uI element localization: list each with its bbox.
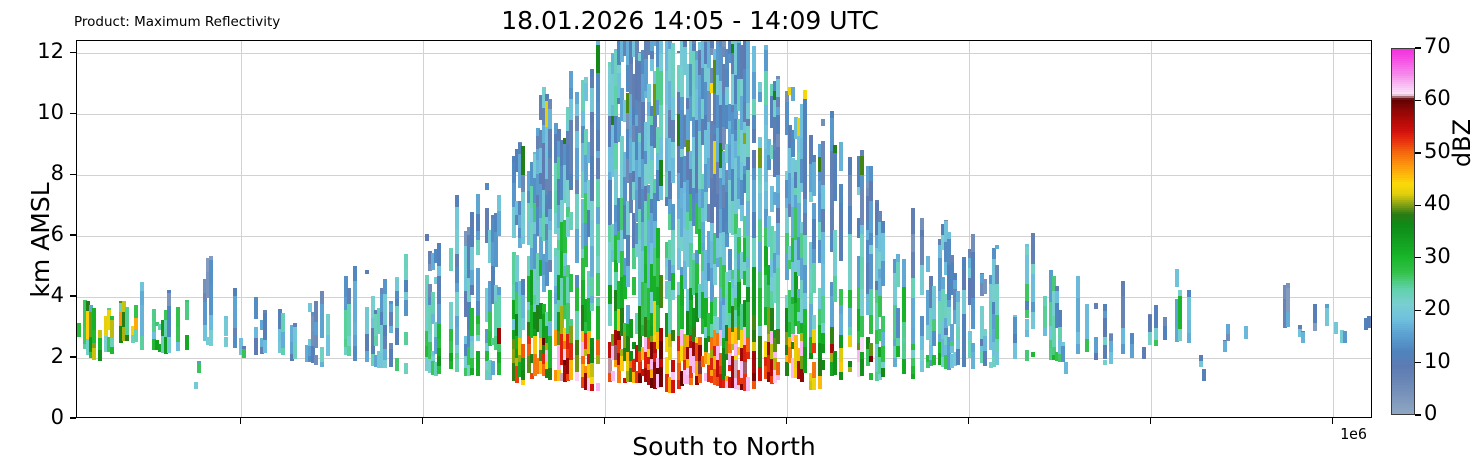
reflectivity-cell <box>548 359 552 369</box>
radar-column <box>1187 41 1191 417</box>
reflectivity-cell <box>92 348 96 360</box>
reflectivity-cell <box>776 175 780 194</box>
reflectivity-cell <box>395 358 399 371</box>
reflectivity-cell <box>437 339 441 348</box>
reflectivity-cell <box>881 261 885 287</box>
reflectivity-cell <box>233 296 237 328</box>
reflectivity-cell <box>347 288 351 305</box>
reflectivity-cell <box>1121 344 1125 354</box>
reflectivity-cell <box>860 337 864 352</box>
radar-column <box>869 41 873 417</box>
reflectivity-cell <box>1313 323 1317 332</box>
reflectivity-cell <box>365 307 369 335</box>
reflectivity-cell <box>233 328 237 336</box>
colorbar-tick-mark <box>1415 47 1421 48</box>
reflectivity-cell <box>455 367 459 372</box>
reflectivity-cell <box>596 339 600 355</box>
plot-area <box>76 40 1372 418</box>
radar-column <box>995 41 999 417</box>
reflectivity-cell <box>395 299 399 306</box>
reflectivity-cell <box>437 356 441 366</box>
reflectivity-cell <box>752 381 756 389</box>
reflectivity-cell <box>881 346 885 363</box>
reflectivity-cell <box>521 380 525 385</box>
reflectivity-cell <box>548 260 552 272</box>
reflectivity-cell <box>596 45 600 73</box>
reflectivity-cell <box>125 307 129 335</box>
reflectivity-cell <box>752 330 756 342</box>
reflectivity-cell <box>476 364 480 376</box>
reflectivity-cell <box>596 179 600 207</box>
reflectivity-cell <box>812 343 816 353</box>
reflectivity-cell <box>839 372 843 380</box>
reflectivity-cell <box>860 257 864 272</box>
reflectivity-cell <box>92 330 96 343</box>
reflectivity-cell <box>263 310 267 313</box>
colorbar <box>1391 48 1415 415</box>
reflectivity-cell <box>1094 353 1098 361</box>
reflectivity-cell <box>671 265 675 273</box>
reflectivity-cell <box>671 64 675 97</box>
reflectivity-cell <box>590 338 594 347</box>
reflectivity-cell <box>476 301 480 316</box>
reflectivity-cell <box>1325 304 1329 308</box>
reflectivity-cell <box>833 153 837 177</box>
radar-column <box>896 41 900 417</box>
radar-column <box>242 41 246 417</box>
radar-column <box>293 41 297 417</box>
reflectivity-cell <box>521 146 525 175</box>
reflectivity-cell <box>752 168 756 180</box>
reflectivity-cell <box>659 71 663 105</box>
reflectivity-cell <box>896 346 900 356</box>
colorbar-segment <box>1392 48 1414 49</box>
reflectivity-cell <box>176 342 180 351</box>
reflectivity-cell <box>569 120 573 138</box>
reflectivity-cell <box>1031 233 1035 264</box>
radar-column <box>1094 41 1098 417</box>
reflectivity-cell <box>803 99 807 131</box>
reflectivity-cell <box>803 130 807 157</box>
reflectivity-cell <box>590 88 594 112</box>
reflectivity-cell <box>839 335 843 348</box>
reflectivity-cell <box>575 229 579 263</box>
radar-column <box>125 41 129 417</box>
reflectivity-cell <box>596 102 600 130</box>
radar-column <box>839 41 843 417</box>
reflectivity-cell <box>437 304 441 324</box>
reflectivity-cell <box>455 292 459 316</box>
reflectivity-cell <box>956 291 960 303</box>
reflectivity-cell <box>746 119 750 126</box>
reflectivity-cell <box>803 358 807 374</box>
reflectivity-cell <box>209 260 213 285</box>
reflectivity-cell <box>110 320 114 338</box>
radar-column <box>920 41 924 417</box>
reflectivity-cell <box>167 290 171 293</box>
reflectivity-cell <box>497 287 501 295</box>
reflectivity-cell <box>911 328 915 344</box>
reflectivity-cell <box>896 262 900 287</box>
reflectivity-cell <box>911 358 915 366</box>
reflectivity-cell <box>860 175 864 190</box>
radar-column <box>1163 41 1167 417</box>
reflectivity-cell <box>659 160 663 186</box>
reflectivity-cell <box>821 232 825 265</box>
radar-column <box>449 41 453 417</box>
reflectivity-cell <box>470 368 474 375</box>
reflectivity-cell <box>1121 296 1125 327</box>
reflectivity-cell <box>224 316 228 319</box>
reflectivity-cell <box>848 157 852 175</box>
reflectivity-cell <box>920 218 924 230</box>
reflectivity-cell <box>320 291 324 305</box>
reflectivity-cell <box>569 99 573 120</box>
reflectivity-cell <box>995 315 999 339</box>
reflectivity-cell <box>902 338 906 343</box>
reflectivity-cell <box>476 194 480 214</box>
reflectivity-cell <box>803 339 807 347</box>
reflectivity-cell <box>1148 314 1152 315</box>
reflectivity-cell <box>671 360 675 372</box>
reflectivity-cell <box>659 41 663 54</box>
reflectivity-cell <box>353 302 357 322</box>
reflectivity-cell <box>848 327 852 334</box>
reflectivity-cell <box>776 329 780 345</box>
reflectivity-cell <box>821 141 825 159</box>
reflectivity-cell <box>470 308 474 336</box>
reflectivity-cell <box>839 184 843 203</box>
reflectivity-cell <box>1103 345 1107 359</box>
reflectivity-cell <box>209 285 213 315</box>
reflectivity-cell <box>185 302 189 321</box>
reflectivity-cell <box>455 267 459 283</box>
reflectivity-cell <box>347 346 351 357</box>
reflectivity-cell <box>77 323 81 336</box>
reflectivity-cell <box>803 199 807 213</box>
reflectivity-cell <box>659 137 663 148</box>
reflectivity-cell <box>521 279 525 296</box>
x-tick-mark <box>1150 418 1151 424</box>
reflectivity-cell <box>860 273 864 289</box>
reflectivity-cell <box>776 147 780 174</box>
reflectivity-cell <box>1148 315 1152 332</box>
reflectivity-cell <box>659 186 663 200</box>
radar-cross-section-figure: Product: Maximum Reflectivity 18.01.2026… <box>0 0 1482 470</box>
reflectivity-cell <box>671 273 675 289</box>
reflectivity-cell <box>776 375 780 380</box>
radar-column <box>1109 41 1113 417</box>
reflectivity-cell <box>881 368 885 377</box>
reflectivity-cell <box>470 220 474 228</box>
reflectivity-cell <box>167 337 171 353</box>
gridline-vertical <box>423 41 424 417</box>
reflectivity-cell <box>476 268 480 301</box>
reflectivity-cell <box>590 201 594 220</box>
reflectivity-cell <box>470 270 474 285</box>
colorbar-tick-mark <box>1415 414 1421 415</box>
reflectivity-cell <box>1334 322 1338 334</box>
reflectivity-cell <box>752 115 756 130</box>
reflectivity-cell <box>404 292 408 299</box>
reflectivity-cell <box>497 363 501 376</box>
reflectivity-cell <box>548 221 552 229</box>
reflectivity-cell <box>590 220 594 246</box>
reflectivity-cell <box>1130 333 1134 343</box>
reflectivity-cell <box>1187 333 1191 342</box>
reflectivity-cell <box>590 123 594 156</box>
reflectivity-cell <box>314 335 318 347</box>
reflectivity-cell <box>1085 339 1089 352</box>
x-tick-mark <box>786 418 787 424</box>
radar-column <box>110 41 114 417</box>
reflectivity-cell <box>1109 352 1113 364</box>
reflectivity-cell <box>404 254 408 269</box>
reflectivity-cell <box>167 293 171 307</box>
reflectivity-cell <box>575 311 579 340</box>
reflectivity-cell <box>470 336 474 341</box>
reflectivity-cell <box>896 338 900 347</box>
radar-column <box>1148 41 1152 417</box>
reflectivity-cell <box>1094 303 1098 309</box>
radar-column <box>833 41 837 417</box>
reflectivity-cell <box>758 353 762 367</box>
reflectivity-cell <box>659 359 663 367</box>
radar-column <box>596 41 600 417</box>
reflectivity-cell <box>548 368 552 380</box>
reflectivity-cell <box>293 343 297 359</box>
reflectivity-cell <box>1013 334 1017 343</box>
radar-column <box>659 41 663 417</box>
y-tick-mark <box>70 52 76 53</box>
reflectivity-cell <box>596 297 600 307</box>
reflectivity-cell <box>437 243 441 266</box>
reflectivity-cell <box>596 224 600 256</box>
reflectivity-cell <box>569 319 573 326</box>
colorbar-gradient <box>1391 48 1415 415</box>
radar-column <box>389 41 393 417</box>
radar-column <box>98 41 102 417</box>
reflectivity-cell <box>548 209 552 221</box>
reflectivity-cell <box>758 272 762 289</box>
reflectivity-cell <box>455 195 459 207</box>
colorbar-tick-label: 40 <box>1424 191 1451 215</box>
reflectivity-cell <box>920 336 924 350</box>
reflectivity-cell <box>869 254 873 289</box>
reflectivity-cell <box>1025 319 1029 331</box>
reflectivity-cell <box>881 332 885 346</box>
reflectivity-cell <box>746 126 750 158</box>
reflectivity-cell <box>902 343 906 358</box>
reflectivity-cell <box>803 293 807 309</box>
reflectivity-cell <box>1076 276 1080 299</box>
reflectivity-cell <box>521 358 525 369</box>
reflectivity-cell <box>449 248 453 270</box>
reflectivity-cell <box>869 181 873 202</box>
reflectivity-cell <box>98 330 102 338</box>
reflectivity-cell <box>320 304 324 337</box>
reflectivity-cell <box>575 372 579 382</box>
reflectivity-cell <box>470 358 474 369</box>
reflectivity-cell <box>497 211 501 237</box>
reflectivity-cell <box>758 82 762 92</box>
reflectivity-cell <box>803 90 807 99</box>
reflectivity-cell <box>1286 288 1290 312</box>
reflectivity-cell <box>254 297 258 319</box>
radar-column <box>476 41 480 417</box>
reflectivity-cell <box>455 316 459 327</box>
reflectivity-cell <box>548 230 552 260</box>
radar-column <box>347 41 351 417</box>
reflectivity-cell <box>548 191 552 209</box>
radar-column <box>776 41 780 417</box>
reflectivity-cell <box>263 323 267 341</box>
reflectivity-cell <box>776 362 780 375</box>
reflectivity-cell <box>752 373 756 382</box>
reflectivity-cell <box>596 273 600 297</box>
reflectivity-cell <box>134 329 138 342</box>
reflectivity-cell <box>596 207 600 225</box>
reflectivity-cell <box>659 367 663 375</box>
reflectivity-cell <box>1103 360 1107 365</box>
reflectivity-cell <box>1025 310 1029 319</box>
reflectivity-cell <box>590 363 594 378</box>
reflectivity-cell <box>548 345 552 359</box>
reflectivity-cell <box>911 278 915 297</box>
reflectivity-cell <box>821 344 825 353</box>
reflectivity-cell <box>575 92 579 104</box>
reflectivity-cell <box>746 170 750 201</box>
reflectivity-cell <box>995 351 999 365</box>
reflectivity-cell <box>242 346 246 349</box>
reflectivity-cell <box>671 142 675 158</box>
reflectivity-cell <box>821 119 825 127</box>
reflectivity-cell <box>833 260 837 277</box>
radar-column <box>1031 41 1035 417</box>
reflectivity-cell <box>833 177 837 201</box>
y-tick-label: 10 <box>18 100 64 124</box>
reflectivity-cell <box>962 290 966 314</box>
reflectivity-cell <box>659 341 663 358</box>
reflectivity-cell <box>575 287 579 311</box>
reflectivity-cell <box>140 336 144 350</box>
reflectivity-cell <box>437 324 441 339</box>
radar-column <box>521 41 525 417</box>
reflectivity-cell <box>590 296 594 303</box>
y-tick-mark <box>70 356 76 357</box>
reflectivity-cell <box>758 367 762 381</box>
reflectivity-cell <box>383 360 387 368</box>
reflectivity-cell <box>920 316 924 336</box>
reflectivity-cell <box>956 327 960 339</box>
reflectivity-cell <box>1226 324 1230 334</box>
reflectivity-cell <box>134 318 138 329</box>
reflectivity-cell <box>590 347 594 363</box>
reflectivity-cell <box>659 54 663 72</box>
reflectivity-cell <box>521 224 525 235</box>
reflectivity-cell <box>848 264 852 290</box>
reflectivity-cell <box>383 325 387 336</box>
colorbar-tick-label: 60 <box>1424 86 1451 110</box>
reflectivity-cell <box>395 279 399 290</box>
reflectivity-cell <box>821 333 825 344</box>
reflectivity-cell <box>962 314 966 336</box>
reflectivity-cell <box>860 150 864 156</box>
reflectivity-cell <box>353 281 357 303</box>
reflectivity-cell <box>671 380 675 393</box>
reflectivity-cell <box>776 268 780 303</box>
reflectivity-cell <box>1130 344 1134 359</box>
reflectivity-cell <box>596 41 600 45</box>
reflectivity-cell <box>455 353 459 358</box>
reflectivity-cell <box>752 298 756 315</box>
reflectivity-cell <box>995 265 999 284</box>
reflectivity-cell <box>1148 332 1152 345</box>
radar-column <box>437 41 441 417</box>
reflectivity-cell <box>860 316 864 337</box>
reflectivity-cell <box>971 352 975 370</box>
reflectivity-cell <box>803 157 807 182</box>
reflectivity-cell <box>134 305 138 317</box>
reflectivity-cell <box>548 321 552 336</box>
radar-column <box>1313 41 1317 417</box>
reflectivity-cell <box>476 324 480 334</box>
y-axis-label: km AMSL <box>26 140 55 340</box>
reflectivity-cell <box>404 269 408 280</box>
radar-column <box>1334 41 1338 417</box>
reflectivity-cell <box>110 316 114 320</box>
reflectivity-cell <box>869 245 873 255</box>
radar-column <box>404 41 408 417</box>
reflectivity-cell <box>776 223 780 255</box>
reflectivity-cell <box>476 351 480 364</box>
reflectivity-cell <box>548 149 552 158</box>
colorbar-tick-label: 0 <box>1424 401 1437 425</box>
reflectivity-cell <box>746 157 750 170</box>
reflectivity-cell <box>233 336 237 349</box>
reflectivity-cell <box>1109 341 1113 352</box>
reflectivity-cell <box>98 350 102 361</box>
reflectivity-cell <box>881 233 885 261</box>
radar-column <box>1325 41 1329 417</box>
reflectivity-cell <box>1103 311 1107 318</box>
reflectivity-cell <box>590 277 594 296</box>
radar-column <box>1154 41 1158 417</box>
reflectivity-cell <box>758 193 762 219</box>
reflectivity-cell <box>833 145 837 153</box>
radar-column <box>281 41 285 417</box>
reflectivity-cell <box>575 180 579 194</box>
reflectivity-cell <box>746 268 750 287</box>
reflectivity-cell <box>803 309 807 325</box>
radar-column <box>1301 41 1305 417</box>
reflectivity-cell <box>896 254 900 262</box>
reflectivity-cell <box>848 361 852 367</box>
reflectivity-cell <box>752 150 756 168</box>
radar-column <box>470 41 474 417</box>
reflectivity-cell <box>455 207 459 229</box>
reflectivity-cell <box>932 319 936 330</box>
reflectivity-cell <box>476 335 480 341</box>
reflectivity-cell <box>569 71 573 88</box>
reflectivity-cell <box>911 252 915 278</box>
reflectivity-cell <box>281 348 285 355</box>
reflectivity-cell <box>1076 344 1080 354</box>
radar-column <box>803 41 807 417</box>
reflectivity-cell <box>821 264 825 296</box>
reflectivity-cell <box>476 214 480 231</box>
reflectivity-cell <box>803 325 807 339</box>
